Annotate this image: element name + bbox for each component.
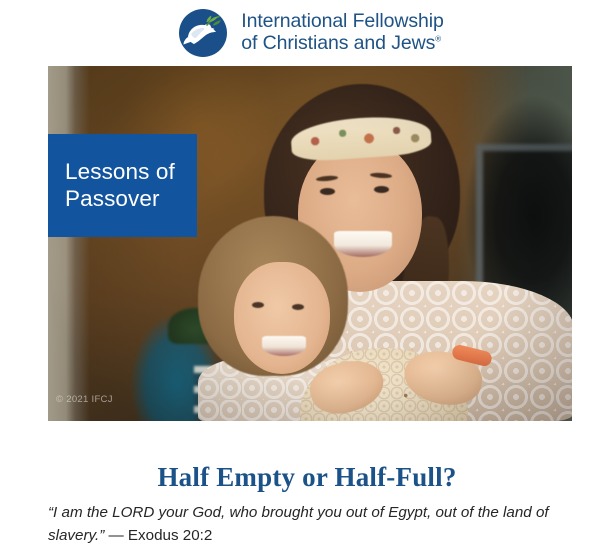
hero-photo-background: Lessons of Passover © 2021 IFCJ [48, 66, 572, 421]
photo-subjects [48, 66, 572, 421]
girl-face [234, 262, 330, 374]
girl-smile [262, 336, 306, 356]
banner-text: Lessons of Passover [65, 159, 175, 211]
girl-eye-right [292, 304, 304, 310]
woman-smile [334, 231, 392, 257]
woman-eye-right [374, 186, 389, 193]
girl-eye-left [252, 302, 264, 308]
site-header: International Fellowship of Christians a… [0, 0, 614, 66]
hero-photo: Lessons of Passover © 2021 IFCJ [48, 66, 572, 421]
scripture-reference: — Exodus 20:2 [109, 527, 213, 544]
banner-line-1: Lessons of [65, 159, 175, 184]
lessons-of-passover-banner: Lessons of Passover [48, 134, 197, 237]
dove-olive-branch-icon [176, 6, 230, 60]
org-name-line-2: of Christians and Jews [241, 32, 435, 54]
photo-copyright: © 2021 IFCJ [56, 394, 113, 405]
org-wordmark: International Fellowship of Christians a… [241, 11, 443, 55]
ifcj-logo[interactable] [176, 6, 230, 60]
org-name-line-1: International Fellowship [241, 10, 443, 32]
scripture-quote: “I am the LORD your God, who brought you… [48, 501, 580, 547]
banner-line-2: Passover [65, 186, 175, 212]
woman-eye-left [320, 188, 335, 195]
registered-trademark-symbol: ® [435, 35, 441, 44]
article-headline: Half Empty or Half-Full? [0, 462, 614, 493]
